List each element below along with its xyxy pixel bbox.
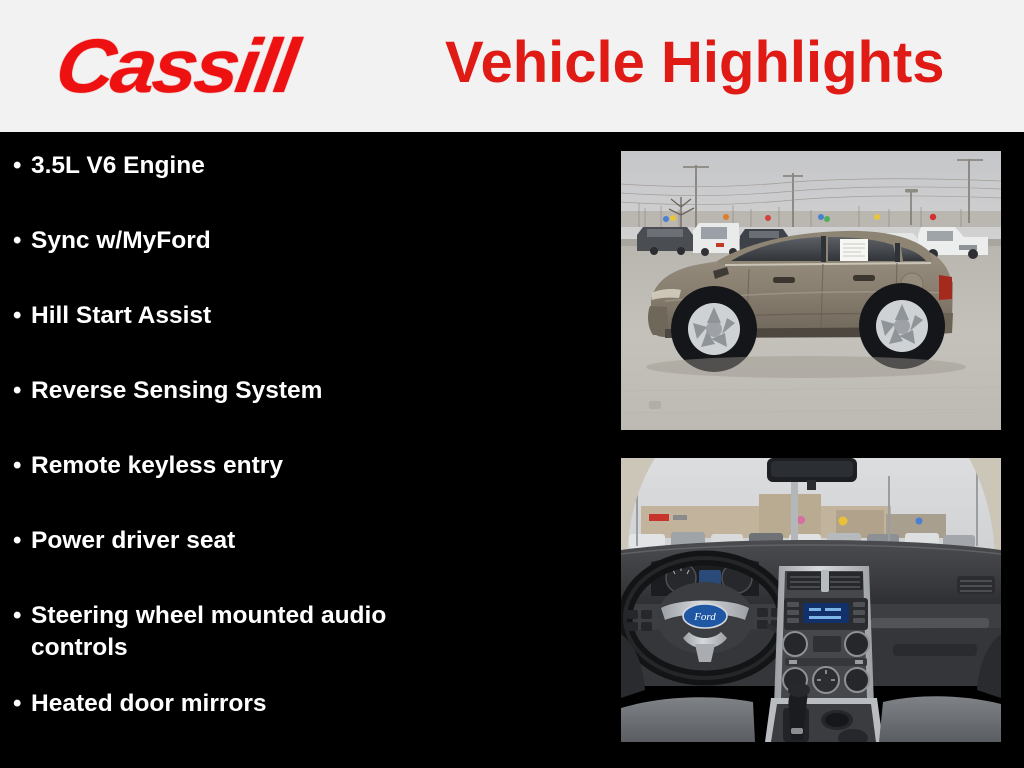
list-item-label: Reverse Sensing System <box>31 375 501 407</box>
list-item-label: Sync w/MyFord <box>31 225 501 257</box>
highlights-list: • 3.5L V6 Engine • Sync w/MyFord • Hill … <box>0 132 610 768</box>
bullet-icon: • <box>13 525 31 556</box>
cassill-logo: Cassill <box>57 22 357 112</box>
vehicle-interior-photo: Ford <box>621 458 1001 742</box>
list-item: • 3.5L V6 Engine <box>0 150 610 225</box>
vehicle-exterior-photo <box>621 151 1001 430</box>
vehicle-highlights-slide: Cassill Vehicle Highlights • 3.5L V6 Eng… <box>0 0 1024 768</box>
list-item: • Remote keyless entry <box>0 450 610 525</box>
list-item: • Steering wheel mounted audio controls <box>0 600 610 688</box>
list-item-label: Hill Start Assist <box>31 300 501 332</box>
page-title: Vehicle Highlights <box>445 30 945 97</box>
bullet-icon: • <box>13 688 31 719</box>
bullet-icon: • <box>13 225 31 256</box>
bullet-icon: • <box>13 150 31 181</box>
list-item-label: 3.5L V6 Engine <box>31 150 501 182</box>
list-item: • Power driver seat <box>0 525 610 600</box>
slide-header: Cassill Vehicle Highlights <box>0 0 1024 132</box>
list-item-label: Heated door mirrors <box>31 688 501 720</box>
list-item: • Hill Start Assist <box>0 300 610 375</box>
bullet-icon: • <box>13 600 31 631</box>
svg-text:Ford: Ford <box>693 611 716 623</box>
list-item: • Heated door mirrors <box>0 688 610 763</box>
interior-illustration: Ford <box>621 458 1001 742</box>
cassill-logo-text: Cassill <box>51 29 301 105</box>
bullet-icon: • <box>13 450 31 481</box>
exterior-illustration <box>621 151 1001 430</box>
bullet-icon: • <box>13 375 31 406</box>
list-item-label: Steering wheel mounted audio controls <box>31 600 501 664</box>
list-item: • Sync w/MyFord <box>0 225 610 300</box>
bullet-icon: • <box>13 300 31 331</box>
list-item: • Reverse Sensing System <box>0 375 610 450</box>
list-item-label: Remote keyless entry <box>31 450 501 482</box>
list-item-label: Power driver seat <box>31 525 501 557</box>
